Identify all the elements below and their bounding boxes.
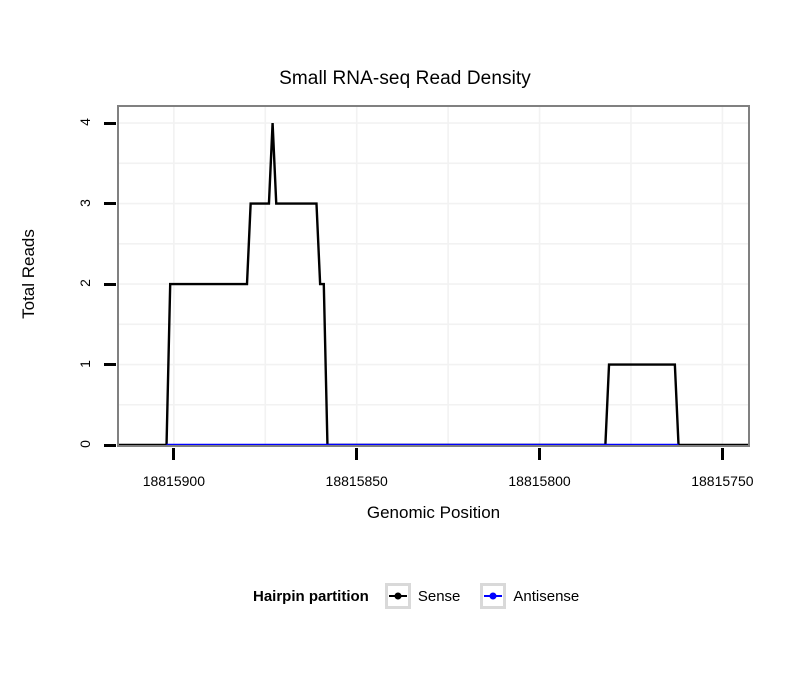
x-axis-title: Genomic Position bbox=[117, 503, 750, 523]
legend-key-dot bbox=[490, 593, 497, 600]
x-tick-mark bbox=[355, 448, 358, 460]
legend-label: Sense bbox=[418, 588, 461, 605]
y-tick-mark bbox=[104, 444, 116, 447]
x-tick-mark bbox=[538, 448, 541, 460]
line-point-icon bbox=[385, 583, 411, 609]
legend-title: Hairpin partition bbox=[253, 588, 369, 605]
x-tick-label: 18815800 bbox=[470, 473, 610, 489]
legend-items: SenseAntisense bbox=[385, 583, 599, 609]
x-tick-label: 18815850 bbox=[287, 473, 427, 489]
y-tick-label: 4 bbox=[77, 111, 93, 133]
y-axis-title: Total Reads bbox=[19, 224, 39, 324]
legend-item-sense[interactable]: Sense bbox=[385, 583, 475, 609]
y-tick-label: 0 bbox=[77, 433, 93, 455]
y-tick-mark bbox=[104, 283, 116, 286]
chart-figure: Small RNA-seq Read Density Total Reads 0… bbox=[0, 0, 810, 690]
y-tick-label: 3 bbox=[77, 192, 93, 214]
legend-item-antisense[interactable]: Antisense bbox=[480, 583, 593, 609]
plot-area bbox=[119, 107, 748, 445]
line-point-icon bbox=[480, 583, 506, 609]
chart-title: Small RNA-seq Read Density bbox=[0, 68, 810, 90]
legend: Hairpin partition SenseAntisense bbox=[253, 583, 599, 609]
plot-svg bbox=[119, 107, 748, 445]
y-tick-label: 1 bbox=[77, 353, 93, 375]
y-tick-mark bbox=[104, 202, 116, 205]
x-tick-mark bbox=[172, 448, 175, 460]
x-tick-label: 18815900 bbox=[104, 473, 244, 489]
y-tick-mark bbox=[104, 122, 116, 125]
y-tick-mark bbox=[104, 363, 116, 366]
y-tick-label: 2 bbox=[77, 272, 93, 294]
plot-panel bbox=[117, 105, 750, 447]
legend-key-dot bbox=[394, 593, 401, 600]
legend-label: Antisense bbox=[513, 588, 579, 605]
x-tick-mark bbox=[721, 448, 724, 460]
x-tick-label: 18815750 bbox=[652, 473, 792, 489]
